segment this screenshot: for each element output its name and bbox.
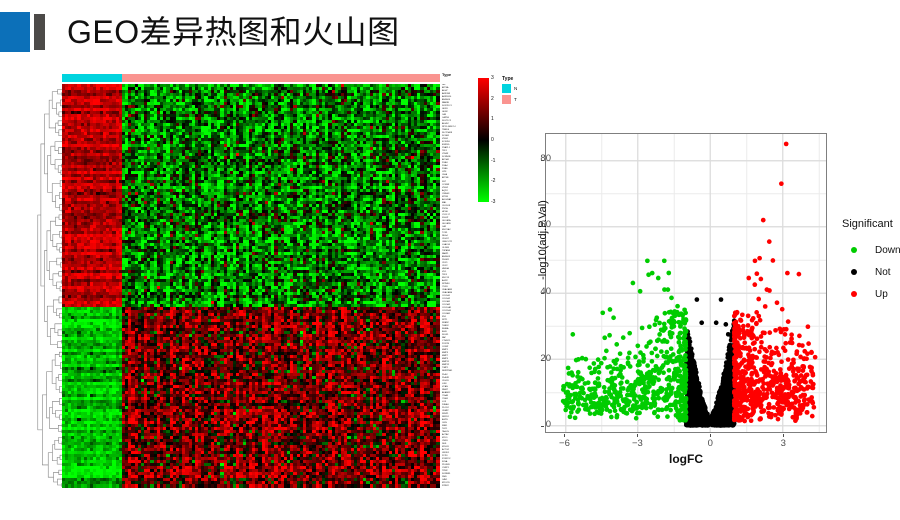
type-legend-item-n: N (502, 84, 542, 93)
volcano-plot-figure: -log10(adj.P.Val) logFC 020406080−6−303 … (512, 108, 896, 480)
volcano-y-tick-label: 40 (511, 286, 551, 297)
volcano-legend-label-up: Up (875, 289, 888, 300)
volcano-y-tick-mark (541, 160, 544, 161)
heatmap-column-annotation-bar (62, 74, 440, 82)
heatmap-colorbar-legend: 3210-1-2-3 (478, 78, 494, 202)
heatmap-figure: Type GIFATP4AADH7AKR7A3AKR1B10ANXA10FAM3… (14, 70, 524, 500)
heatmap-type-legend: Type N T (502, 76, 542, 106)
colorbar-tick: -3 (491, 199, 495, 205)
type-legend-label-n: N (514, 86, 517, 91)
annotation-segment-normal (62, 74, 122, 82)
volcano-plot-panel (545, 133, 827, 433)
heatmap-matrix (62, 84, 440, 488)
colorbar-tick: 3 (491, 75, 494, 81)
volcano-legend: Significant Down Not Up (842, 218, 900, 305)
volcano-legend-dot-not (851, 269, 857, 275)
volcano-x-tick-label: −6 (552, 438, 576, 449)
volcano-x-tick-label: −3 (625, 438, 649, 449)
title-accent-blue-block (0, 12, 30, 52)
volcano-x-tick-mark (783, 434, 784, 437)
volcano-x-tick-label: 3 (771, 438, 795, 449)
volcano-legend-item-down: Down (842, 239, 900, 261)
volcano-y-tick-mark (541, 226, 544, 227)
volcano-x-axis-label: logFC (545, 452, 827, 466)
volcano-legend-dot-down (851, 247, 857, 253)
page-title: GEO差异热图和火山图 (67, 12, 400, 52)
annotation-segment-tumor (122, 74, 440, 82)
volcano-legend-title: Significant (842, 218, 900, 230)
volcano-legend-item-up: Up (842, 283, 900, 305)
slide-title-bar: GEO差异热图和火山图 (0, 12, 400, 52)
heatmap-annotation-title: Type (442, 72, 451, 77)
volcano-x-tick-mark (637, 434, 638, 437)
colorbar-tick: -1 (491, 158, 495, 164)
heatmap-row-dendrogram (20, 88, 66, 488)
volcano-x-tick-label: 0 (698, 438, 722, 449)
heatmap-row-label: NTRK2 (442, 485, 476, 488)
colorbar-tick: 2 (491, 96, 494, 102)
volcano-x-tick-mark (564, 434, 565, 437)
volcano-legend-label-down: Down (875, 245, 900, 256)
colorbar-tick: -2 (491, 178, 495, 184)
volcano-legend-dot-up (851, 291, 857, 297)
volcano-y-tick-mark (541, 293, 544, 294)
type-legend-title: Type (502, 76, 542, 82)
volcano-legend-label-not: Not (875, 267, 891, 278)
type-legend-swatch-t (502, 95, 511, 104)
volcano-x-tick-mark (710, 434, 711, 437)
type-legend-swatch-n (502, 84, 511, 93)
volcano-y-tick-mark (541, 360, 544, 361)
title-accent-gray-bar (34, 14, 45, 50)
volcano-y-tick-label: 60 (511, 219, 551, 230)
type-legend-label-t: T (514, 97, 517, 102)
volcano-y-tick-label: 0 (511, 419, 551, 430)
heatmap-colorbar-gradient (478, 78, 489, 202)
heatmap-row-labels: GIFATP4AADH7AKR7A3AKR1B10ANXA10FAM3BSOST… (442, 84, 476, 488)
volcano-y-tick-mark (541, 426, 544, 427)
colorbar-tick: 1 (491, 116, 494, 122)
volcano-y-tick-label: 80 (511, 153, 551, 164)
colorbar-tick: 0 (491, 137, 494, 143)
volcano-legend-item-not: Not (842, 261, 900, 283)
type-legend-item-t: T (502, 95, 542, 104)
volcano-y-tick-label: 20 (511, 353, 551, 364)
